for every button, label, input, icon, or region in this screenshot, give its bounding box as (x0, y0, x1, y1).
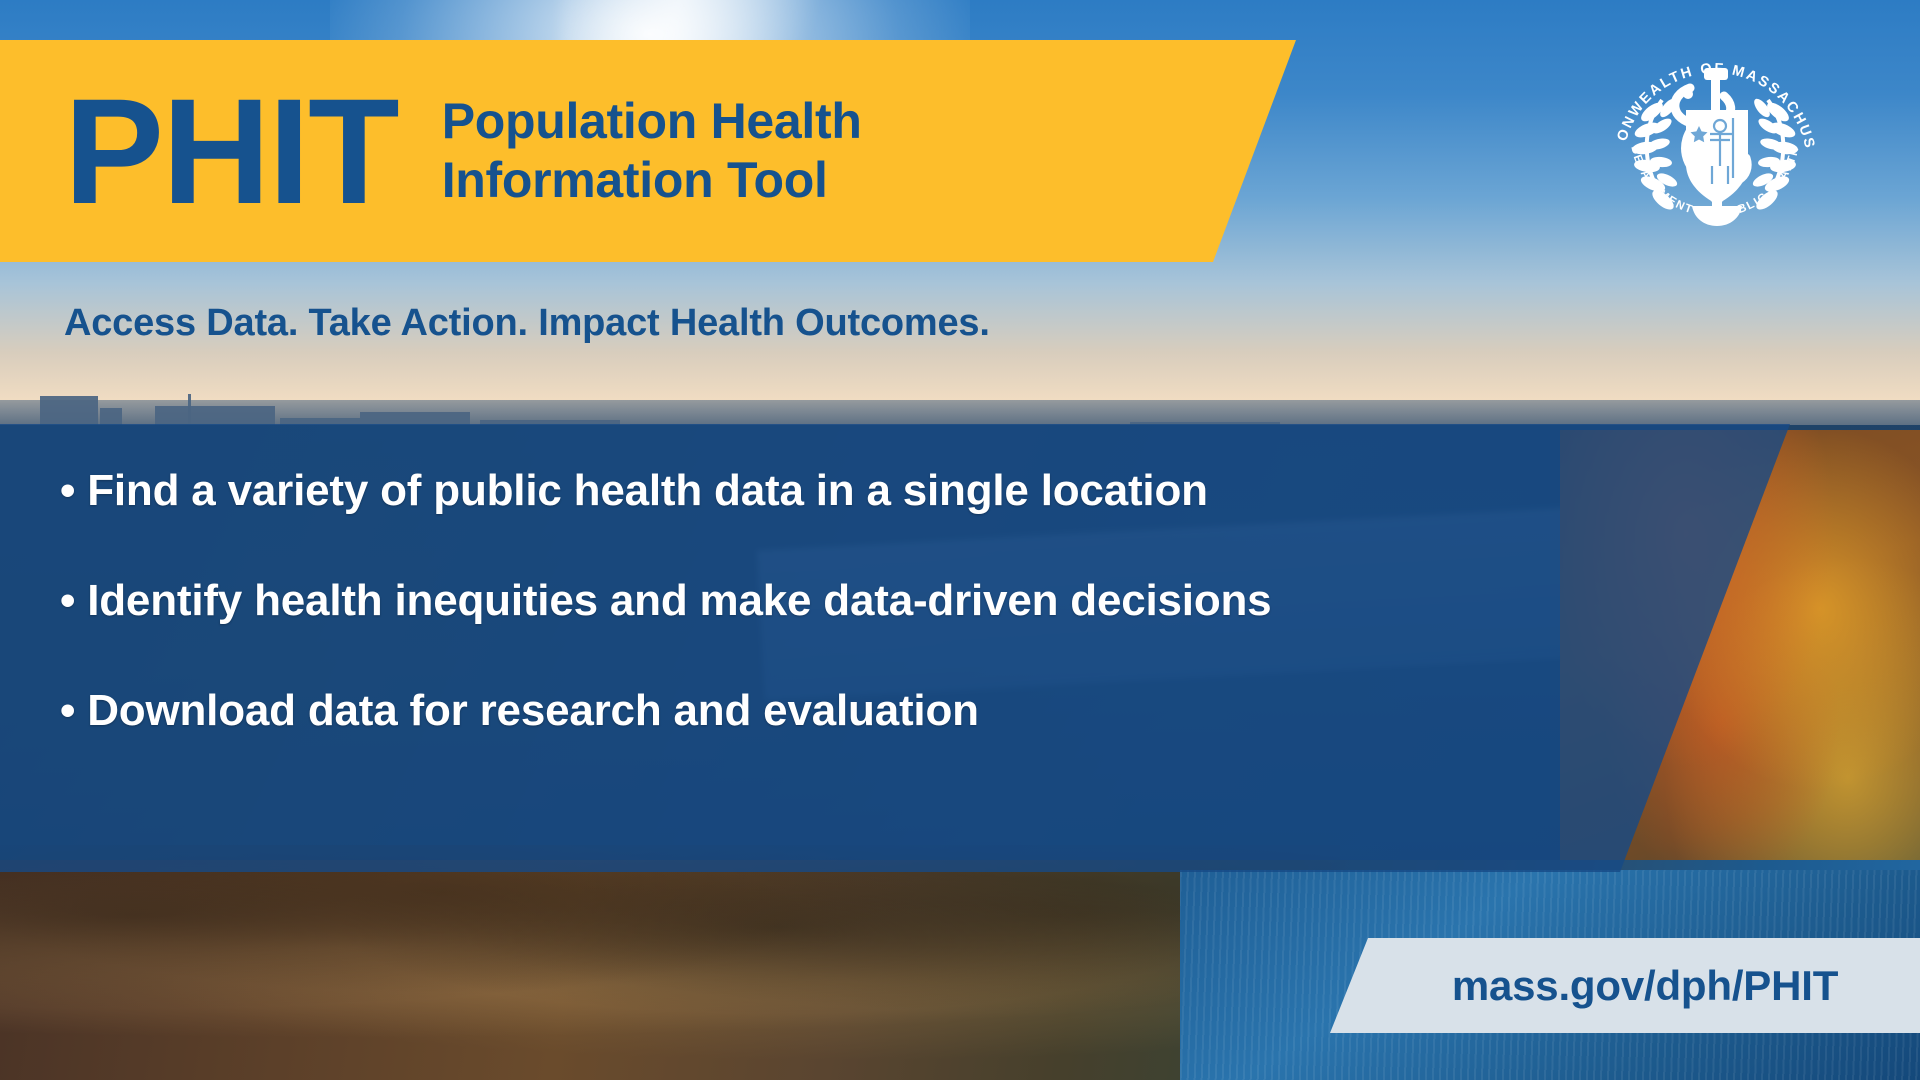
website-url-banner[interactable]: mass.gov/dph/PHIT (1330, 938, 1920, 1033)
benefits-list: • Find a variety of public health data i… (60, 466, 1760, 736)
website-url-text[interactable]: mass.gov/dph/PHIT (1412, 962, 1838, 1010)
phit-acronym: PHIT (64, 76, 398, 226)
phit-banner: PHIT Population Health Information Tool (0, 40, 1320, 262)
phit-expansion-line2: Information Tool (442, 151, 862, 210)
tagline: Access Data. Take Action. Impact Health … (64, 302, 990, 345)
poster-canvas: PHIT Population Health Information Tool (0, 0, 1920, 1080)
foreground-trees (0, 845, 1340, 1080)
list-item: • Find a variety of public health data i… (60, 466, 1760, 516)
phit-expansion: Population Health Information Tool (442, 92, 862, 210)
list-item: • Download data for research and evaluat… (60, 686, 1760, 736)
phit-expansion-line1: Population Health (442, 92, 862, 151)
massachusetts-dph-seal-icon: COMMONWEALTH OF MASSACHUSETTS DEPARTMENT… (1600, 38, 1830, 228)
list-item: • Identify health inequities and make da… (60, 576, 1760, 626)
